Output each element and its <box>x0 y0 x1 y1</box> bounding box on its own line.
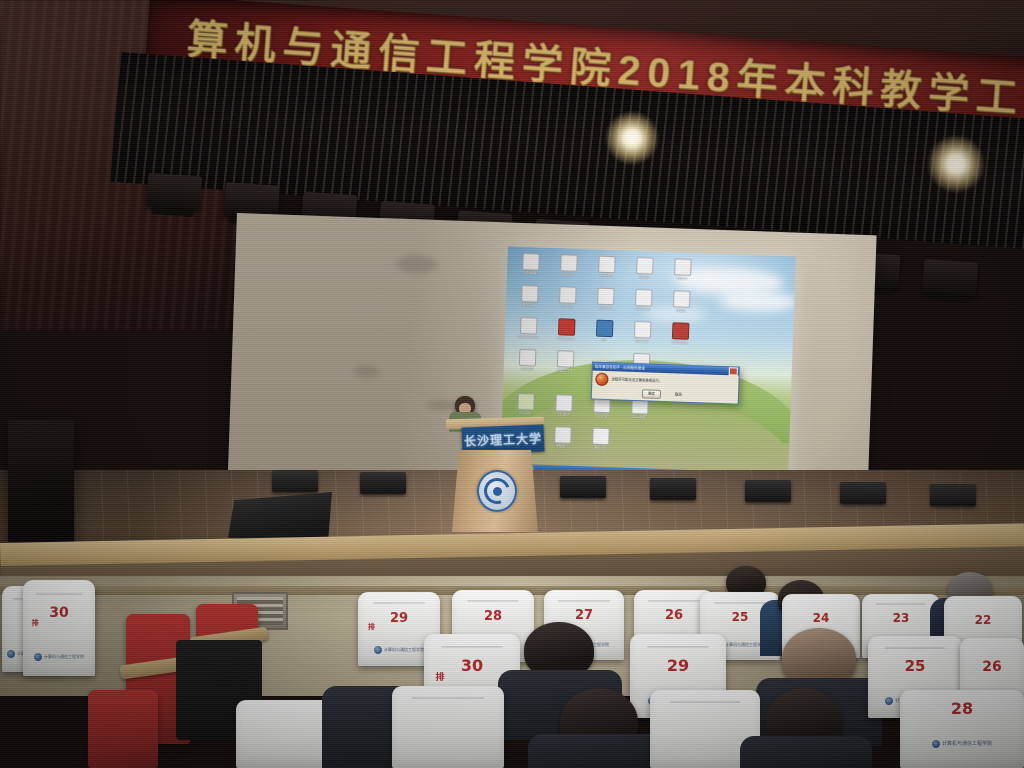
covered-seat[interactable] <box>392 686 504 768</box>
footlight-icon <box>840 482 886 504</box>
screen-smudge <box>395 255 438 274</box>
file-icon <box>597 288 615 306</box>
rig-lamp-icon <box>922 259 978 297</box>
dialog-cancel-button[interactable]: 取消 <box>669 390 688 400</box>
seat-cover-fold <box>876 603 926 605</box>
seat-row-label: 排 <box>32 618 39 628</box>
desktop-icon[interactable]: Adobe Reader <box>511 317 546 340</box>
file-icon <box>519 317 537 335</box>
desktop-icon[interactable]: 本科教学 <box>546 394 581 417</box>
audience-shoulders <box>528 734 668 768</box>
folder-icon <box>518 349 536 367</box>
desktop-icon[interactable]: 我的电脑 <box>513 253 548 276</box>
seat-cover-fold <box>36 593 82 595</box>
seat-number: 29 <box>630 656 726 675</box>
seat-cover-fold <box>670 701 740 703</box>
podium: 长沙理工大学 <box>452 418 538 530</box>
desktop-icon[interactable]: 迅雷下载 <box>625 321 660 344</box>
seat-brand: 计算机与通信工程学院 <box>900 740 1024 748</box>
media-icon <box>671 322 689 340</box>
desktop-icon[interactable]: 教务系统 <box>512 285 547 308</box>
pdf-icon <box>557 318 575 336</box>
desktop-icon[interactable]: 课程表 <box>664 290 699 313</box>
seat-cover-fold <box>412 697 484 699</box>
footlight-icon <box>650 478 696 500</box>
seat-cover-fold <box>558 600 609 602</box>
footlight-icon <box>560 476 606 498</box>
projection-screen: 我的电脑 我的文档 网上邻居 回收站 Internet 教务系统 办公软件 教学… <box>228 213 877 505</box>
college-logo-icon <box>885 697 893 705</box>
desktop-icon[interactable]: Internet <box>665 258 700 281</box>
seat-cover-fold <box>885 647 945 649</box>
desktop-icon[interactable]: 新建文件夹 <box>548 350 583 373</box>
desktop-icon[interactable]: QQ <box>587 319 622 342</box>
seat-number: 25 <box>868 657 962 675</box>
seat-cover-fold <box>373 602 426 604</box>
desktop-icon[interactable]: 通知公告 <box>583 427 618 450</box>
file-icon <box>674 258 692 276</box>
footlight-icon <box>360 472 406 494</box>
college-logo-icon <box>374 646 382 654</box>
desktop-icon[interactable]: 评估材料 <box>508 393 543 416</box>
footlight-icon <box>272 470 318 492</box>
seat-cover-fold <box>647 646 708 648</box>
cloud <box>719 290 796 313</box>
dialog-body: 该程序可能无法正确安装或运行。 <box>592 371 739 393</box>
file-icon <box>672 290 690 308</box>
file-icon <box>636 257 654 275</box>
desktop-icon[interactable]: 会议记录 <box>584 395 619 418</box>
seat-brand-text: 计算机与通信工程学院 <box>942 740 992 747</box>
hill-far <box>500 355 796 444</box>
seat-brand-text: 计算机与通信工程学院 <box>44 654 84 660</box>
pa-speaker <box>8 420 74 542</box>
desktop-icon[interactable]: WPS 文字 <box>626 289 661 312</box>
desktop-icon[interactable]: 我的文档 <box>551 254 586 277</box>
desktop-icon-grid: 我的电脑 我的文档 网上邻居 回收站 Internet 教务系统 办公软件 教学… <box>514 253 694 259</box>
seat-number: 28 <box>452 609 534 624</box>
seat-cover-fold <box>648 600 699 602</box>
audience-shoulders <box>740 736 872 768</box>
screen-smudge <box>353 365 379 378</box>
folder-icon <box>632 353 650 371</box>
footlight-icon <box>745 480 791 502</box>
college-logo-icon <box>34 653 42 661</box>
folder-icon <box>555 394 573 412</box>
file-icon <box>634 289 652 307</box>
file-icon <box>633 321 651 339</box>
dialog-message: 该程序可能无法正确安装或运行。 <box>611 377 662 384</box>
seat-number: 23 <box>862 611 940 625</box>
college-logo-icon <box>7 650 15 658</box>
theater-seat-red[interactable] <box>88 690 158 768</box>
folder-icon <box>592 428 610 446</box>
desktop-icon[interactable]: 360安全卫士 <box>549 318 584 341</box>
seat-brand-text: 计算机与通信工程学院 <box>725 642 765 648</box>
file-icon <box>560 254 578 272</box>
rig-lamp-icon <box>146 173 202 211</box>
seat-cover-fold <box>441 646 502 648</box>
stage-light-glow <box>606 112 658 164</box>
file-icon <box>521 285 539 303</box>
cloud <box>674 266 785 296</box>
seat-row-label: 排 <box>436 670 445 683</box>
university-seal-icon <box>477 470 517 512</box>
desktop-icon[interactable]: 教学资料 <box>588 287 623 310</box>
close-icon[interactable] <box>729 367 738 375</box>
file-icon <box>598 256 616 274</box>
desktop-icon[interactable]: 办公软件 <box>550 286 585 309</box>
stage-light-glow <box>928 136 984 192</box>
college-logo-icon <box>932 740 940 748</box>
dialog-titlebar: 程序兼容性助手 - 应用程序错误 <box>593 363 739 376</box>
seat-number: 27 <box>544 608 624 623</box>
dialog-title: 程序兼容性助手 - 应用程序错误 <box>593 364 645 371</box>
seat-brand-text: 计算机与通信工程学院 <box>384 647 424 653</box>
folder-icon <box>554 426 572 444</box>
cloud <box>644 306 706 322</box>
seat-number: 22 <box>944 613 1022 627</box>
file-icon <box>559 286 577 304</box>
desktop-icon[interactable]: 回收站 <box>627 257 662 280</box>
folder-icon <box>517 393 535 411</box>
desktop-icon[interactable]: 照片素材 <box>624 353 659 376</box>
covered-seat[interactable]: 30 排 计算机与通信工程学院 <box>23 580 95 676</box>
dialog-buttons: 确定 取消 <box>592 388 738 402</box>
desktop-icon[interactable]: 2018年度 <box>622 397 657 420</box>
folder-icon <box>593 396 611 414</box>
auditorium-photo: 算机与通信工程学院2018年本科教学工作 我的电脑 我的文档 <box>0 0 1024 768</box>
file-icon <box>522 253 540 271</box>
desktop-icon[interactable]: 工作汇报 <box>510 349 545 372</box>
folder-icon <box>631 397 649 415</box>
seat-number: 24 <box>782 611 860 625</box>
seat-brand: 计算机与通信工程学院 <box>23 653 95 661</box>
app-icon <box>595 320 613 338</box>
seat-row-label: 排 <box>368 622 375 632</box>
covered-seat[interactable]: 28 计算机与通信工程学院 <box>900 690 1024 768</box>
footlight-icon <box>930 484 976 506</box>
folder-icon <box>556 350 574 368</box>
desktop-icon[interactable]: 学院简介 <box>545 426 580 449</box>
xp-dialog[interactable]: 程序兼容性助手 - 应用程序错误 该程序可能无法正确安装或运行。 确定 取消 <box>591 361 740 404</box>
seat-cover-fold <box>714 602 765 604</box>
desktop-icon[interactable]: 视频播放器 <box>663 322 698 345</box>
seat-number: 26 <box>960 659 1024 675</box>
seat-cover-fold <box>467 600 520 602</box>
error-icon <box>595 373 608 386</box>
seat-number: 28 <box>900 699 1024 718</box>
desktop-icon[interactable]: 网上邻居 <box>589 255 624 278</box>
dialog-ok-button[interactable]: 确定 <box>642 389 661 399</box>
podium-plate-text: 长沙理工大学 <box>464 429 543 449</box>
